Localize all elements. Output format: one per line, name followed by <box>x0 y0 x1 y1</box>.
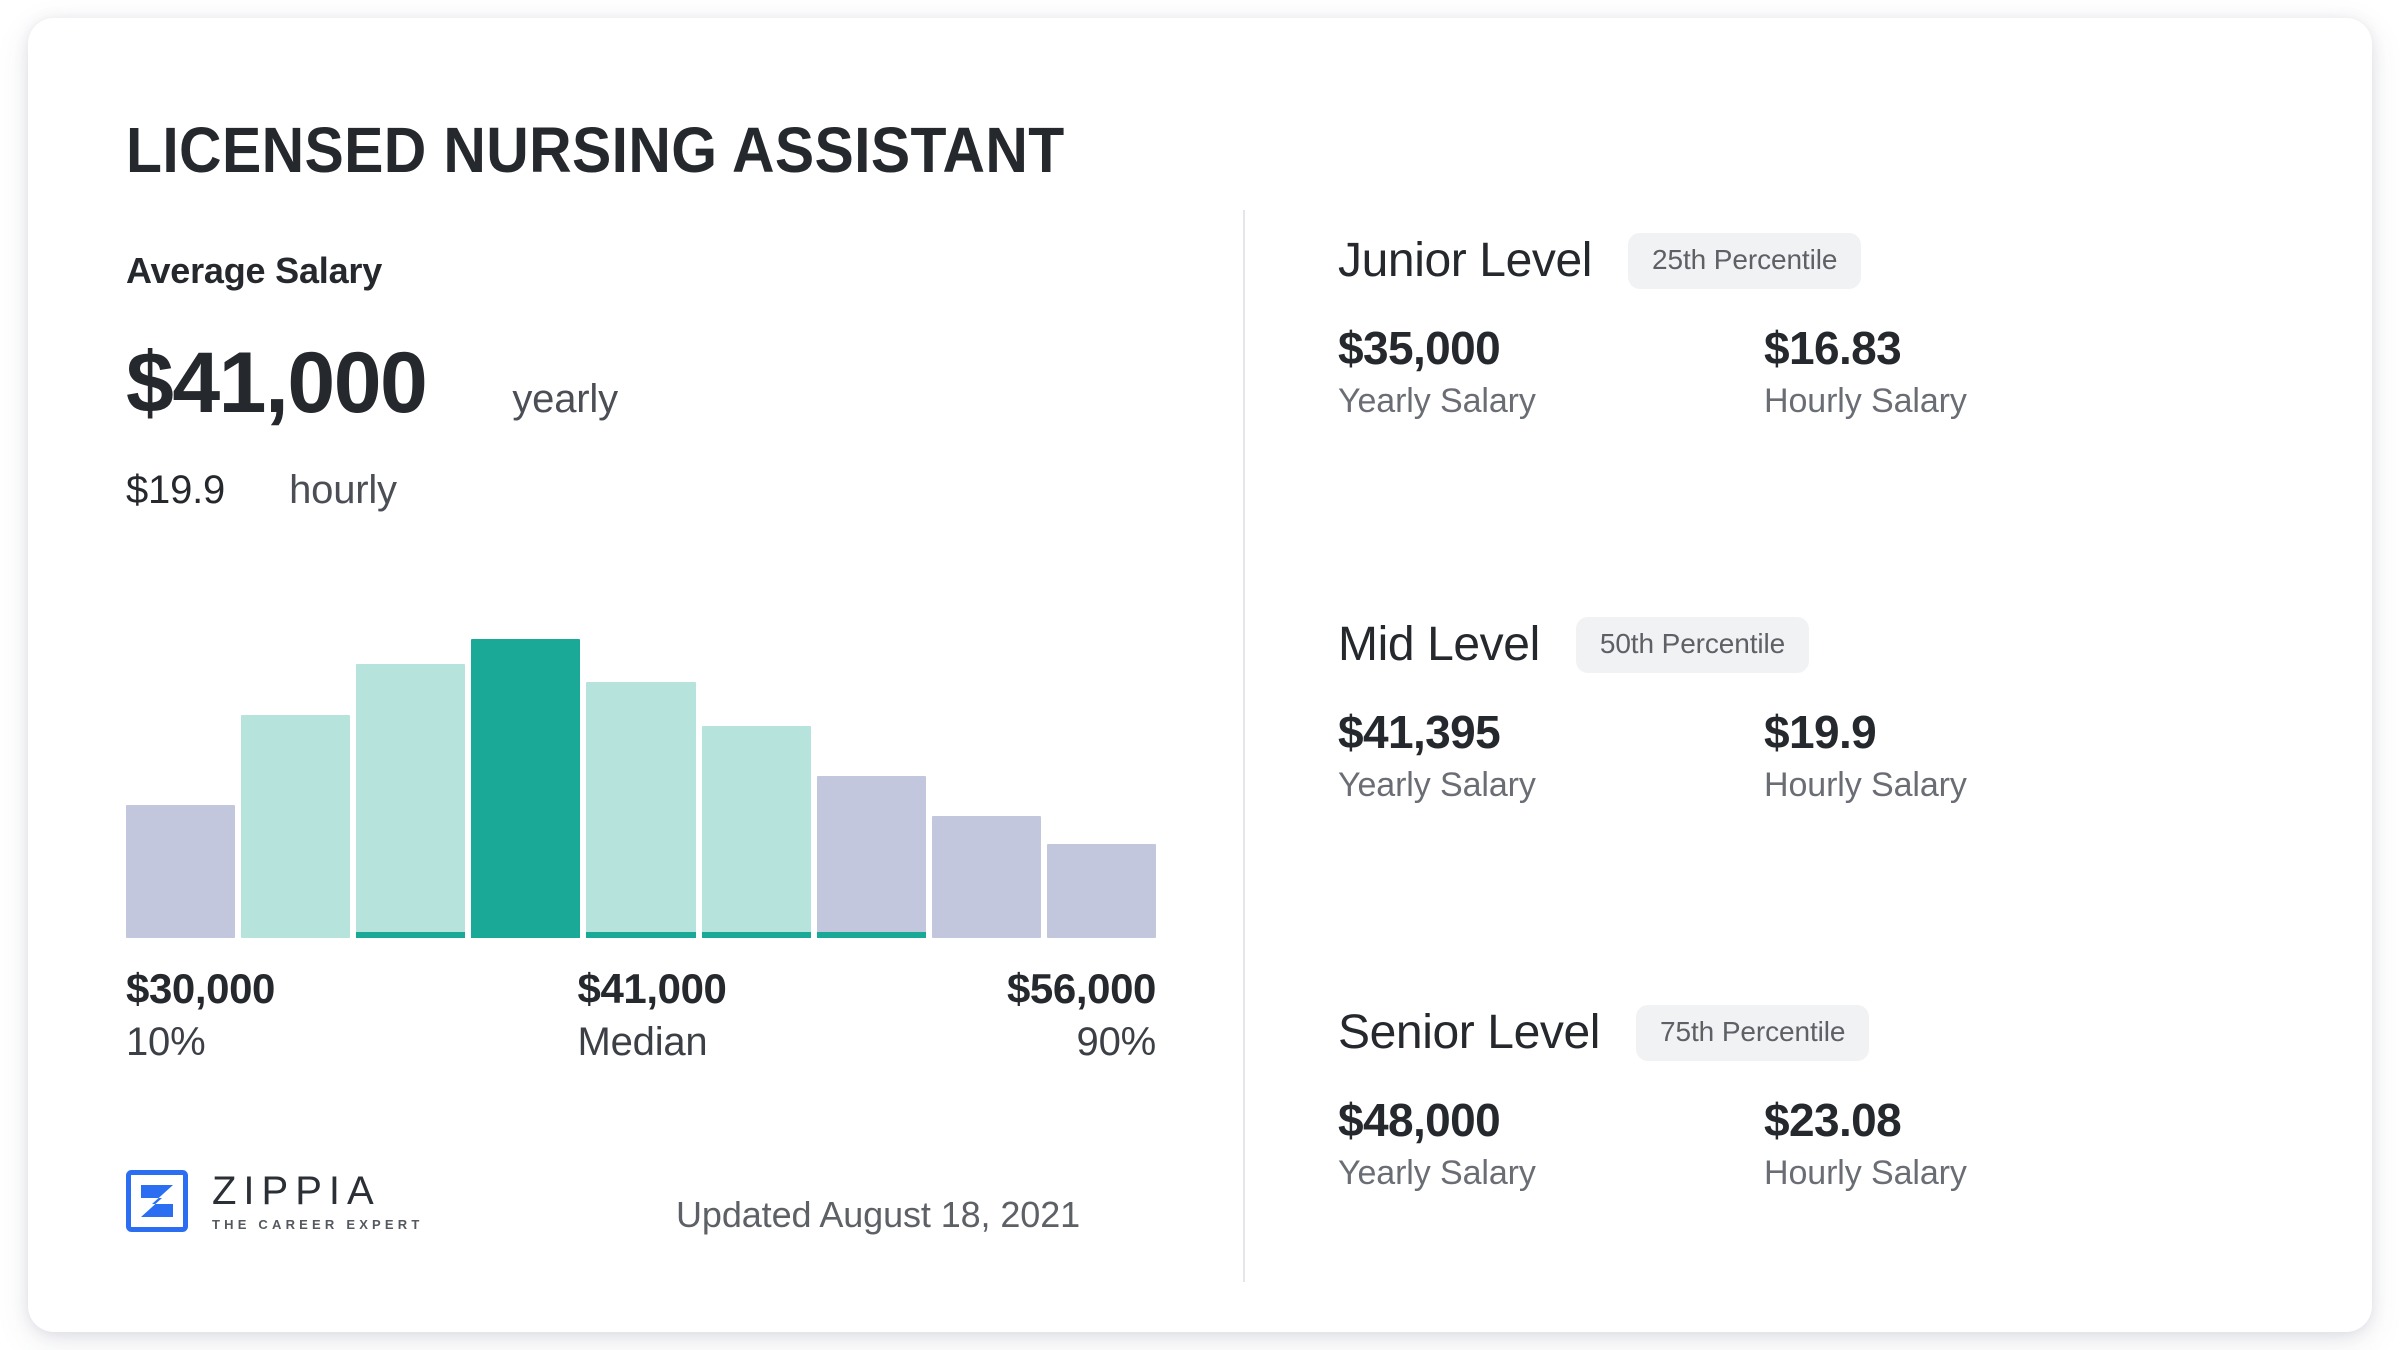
average-yearly-period: yearly <box>512 377 618 422</box>
level-block-mid: Mid Level 50th Percentile $41,395 Yearly… <box>1338 614 2372 804</box>
chart-bar <box>1047 844 1156 938</box>
level-header-junior: Junior Level 25th Percentile <box>1338 230 2372 292</box>
panel-divider <box>1243 210 1245 1282</box>
percentile-badge-mid: 50th Percentile <box>1576 617 1809 673</box>
chart-axis-labels: $30,000 10% $41,000 Median $56,000 90% <box>126 966 1156 1065</box>
axis-high-label: 90% <box>1077 1021 1156 1064</box>
chart-bar <box>241 715 350 938</box>
zippia-word: ZIPPIA <box>212 1171 424 1211</box>
updated-date: Updated August 18, 2021 <box>676 1194 1080 1236</box>
level-name-mid: Mid Level <box>1338 621 1540 669</box>
axis-low-label: 10% <box>126 1021 205 1064</box>
average-salary-hourly: $19.9 hourly <box>126 468 397 513</box>
level-values-mid: $41,395 Yearly Salary $19.9 Hourly Salar… <box>1338 708 2372 804</box>
mid-hourly: $19.9 Hourly Salary <box>1764 708 2281 804</box>
level-name-junior: Junior Level <box>1338 237 1592 285</box>
right-panel: Junior Level 25th Percentile $35,000 Yea… <box>1338 18 2372 1332</box>
junior-hourly-value: $16.83 <box>1764 324 2281 372</box>
axis-high-value: $56,000 <box>1007 966 1156 1011</box>
senior-hourly-label: Hourly Salary <box>1764 1156 2281 1192</box>
mid-hourly-label: Hourly Salary <box>1764 768 2281 804</box>
axis-low-value: $30,000 <box>126 966 275 1011</box>
chart-bar <box>586 682 695 938</box>
page-title: LICENSED NURSING ASSISTANT <box>126 113 1065 187</box>
axis-mid-label: Median <box>577 1021 707 1064</box>
average-salary-label: Average Salary <box>126 250 382 292</box>
mid-hourly-value: $19.9 <box>1764 708 2281 756</box>
salary-distribution-chart <box>126 578 1156 938</box>
axis-label-high: $56,000 90% <box>1007 966 1156 1065</box>
level-header-mid: Mid Level 50th Percentile <box>1338 614 2372 676</box>
percentile-badge-junior: 25th Percentile <box>1628 233 1861 289</box>
chart-bar <box>126 805 235 938</box>
average-hourly-period: hourly <box>289 468 397 513</box>
zippia-tagline: THE CAREER EXPERT <box>212 1218 424 1231</box>
senior-hourly-value: $23.08 <box>1764 1096 2281 1144</box>
average-salary-yearly: $41,000 yearly <box>126 340 618 426</box>
average-yearly-amount: $41,000 <box>126 340 426 426</box>
junior-hourly-label: Hourly Salary <box>1764 384 2281 420</box>
level-header-senior: Senior Level 75th Percentile <box>1338 1002 2372 1064</box>
level-name-senior: Senior Level <box>1338 1009 1600 1057</box>
zippia-logo[interactable]: ZIPPIA THE CAREER EXPERT <box>126 1170 424 1232</box>
axis-mid-value: $41,000 <box>577 966 726 1011</box>
chart-bar <box>817 776 926 938</box>
level-block-junior: Junior Level 25th Percentile $35,000 Yea… <box>1338 230 2372 420</box>
chart-bar <box>932 816 1041 938</box>
chart-bar <box>356 664 465 938</box>
chart-bars <box>126 578 1156 938</box>
average-hourly-amount: $19.9 <box>126 468 225 513</box>
senior-hourly: $23.08 Hourly Salary <box>1764 1096 2281 1192</box>
junior-hourly: $16.83 Hourly Salary <box>1764 324 2281 420</box>
chart-bar <box>702 726 811 938</box>
axis-label-low: $30,000 10% <box>126 966 275 1065</box>
axis-label-median: $41,000 Median <box>577 966 726 1065</box>
level-values-senior: $48,000 Yearly Salary $23.08 Hourly Sala… <box>1338 1096 2372 1192</box>
level-values-junior: $35,000 Yearly Salary $16.83 Hourly Sala… <box>1338 324 2372 420</box>
zippia-z-icon <box>126 1170 188 1232</box>
left-panel: LICENSED NURSING ASSISTANT Average Salar… <box>28 18 1243 1332</box>
zippia-wordmark: ZIPPIA THE CAREER EXPERT <box>212 1171 424 1231</box>
percentile-badge-senior: 75th Percentile <box>1636 1005 1869 1061</box>
salary-card: LICENSED NURSING ASSISTANT Average Salar… <box>28 18 2372 1332</box>
level-block-senior: Senior Level 75th Percentile $48,000 Yea… <box>1338 1002 2372 1192</box>
chart-bar <box>471 639 580 938</box>
